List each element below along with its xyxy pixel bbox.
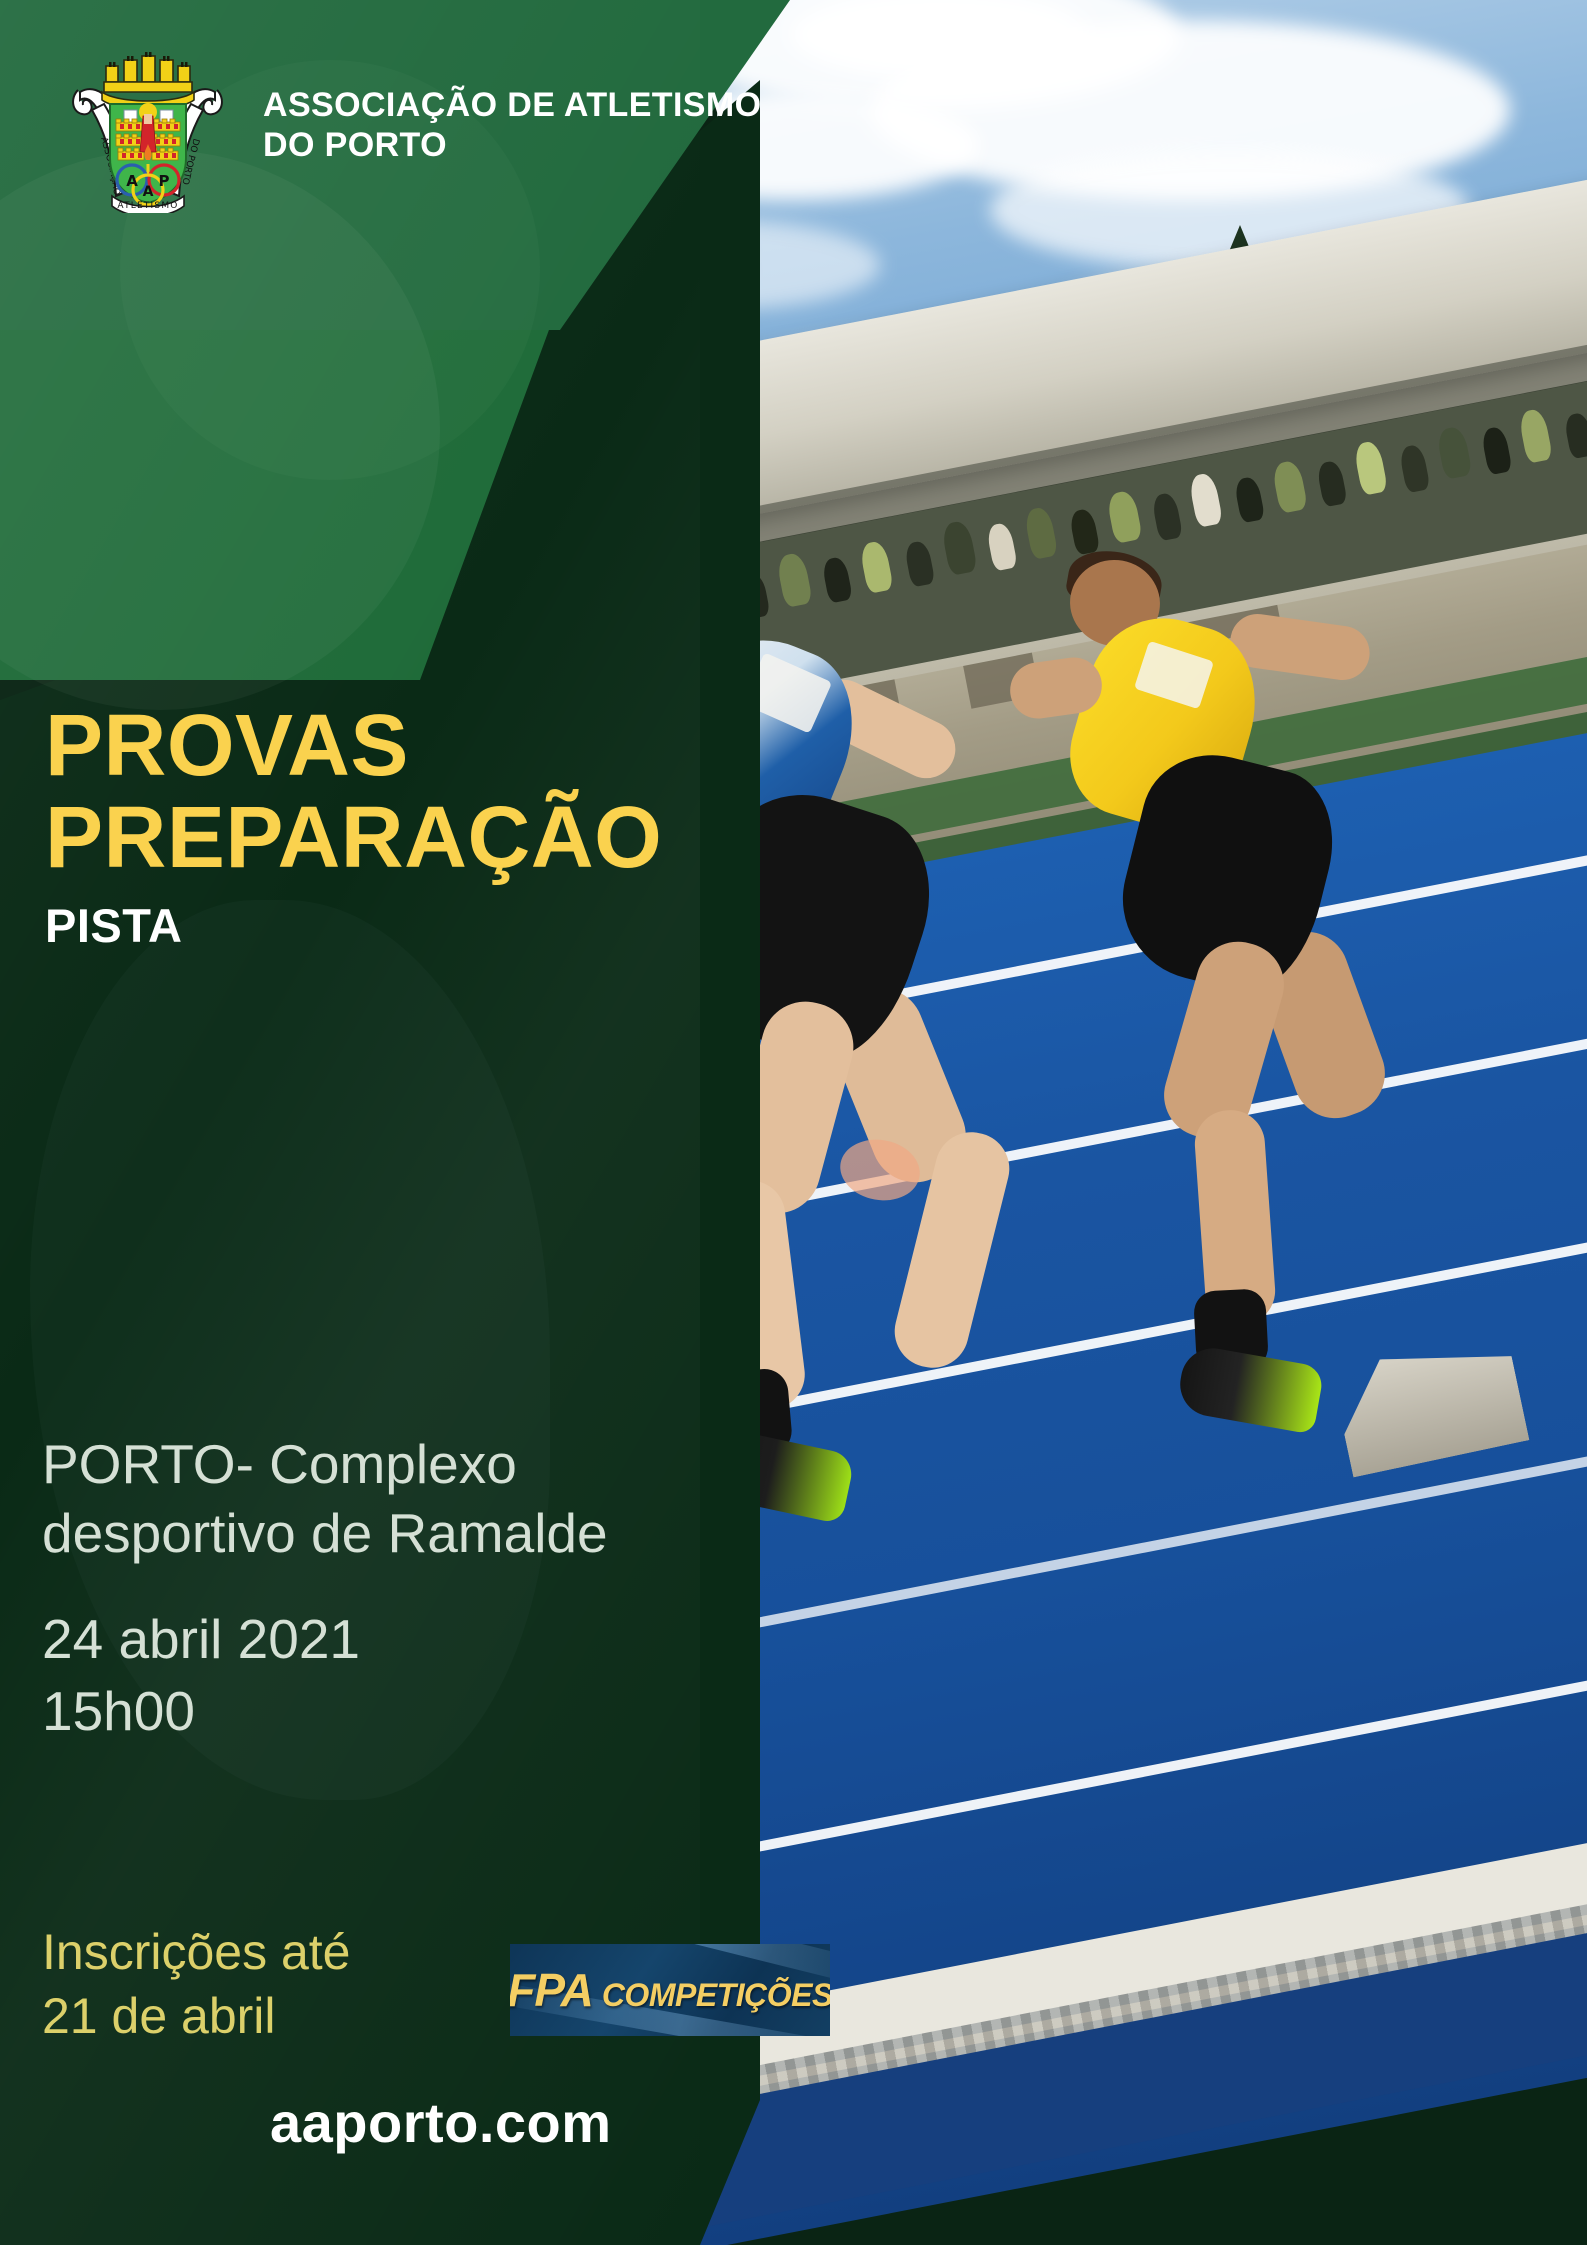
poster-header: ASSOCIAÇÃO DE DO PORTO — [0, 0, 790, 250]
svg-text:A: A — [126, 172, 138, 190]
event-date: 24 abril 2021 — [42, 1603, 742, 1676]
svg-text:P: P — [159, 172, 170, 190]
svg-text:A: A — [143, 184, 154, 200]
event-subtitle: PISTA — [45, 898, 735, 953]
event-title-block: PROVAS PREPARAÇÃO PISTA — [45, 700, 735, 953]
fpa-competicoes-logo[interactable]: FPA COMPETIÇÕES — [510, 1944, 830, 2036]
organization-name: ASSOCIAÇÃO DE ATLETISMO DO PORTO — [263, 85, 761, 165]
fpa-logo-primary: FPA — [510, 1963, 593, 2017]
poster-canvas: ASSOCIAÇÃO DE DO PORTO — [0, 0, 1587, 2245]
event-venue: PORTO- Complexo desportivo de Ramalde — [42, 1430, 742, 1569]
registration-deadline: Inscrições até 21 de abril — [42, 1920, 522, 2048]
event-time: 15h00 — [42, 1675, 742, 1748]
event-title: PROVAS PREPARAÇÃO — [45, 700, 735, 884]
athletics-photo — [540, 0, 1587, 2245]
website-url[interactable]: aaporto.com — [270, 2090, 612, 2155]
light-wash — [0, 0, 700, 2245]
aap-crest-icon: ASSOCIAÇÃO DE DO PORTO — [60, 38, 235, 213]
fpa-logo-secondary: COMPETIÇÕES — [602, 1977, 830, 2014]
event-info-block: PORTO- Complexo desportivo de Ramalde 24… — [42, 1430, 742, 1748]
svg-text:ATLETISMO: ATLETISMO — [117, 201, 178, 211]
